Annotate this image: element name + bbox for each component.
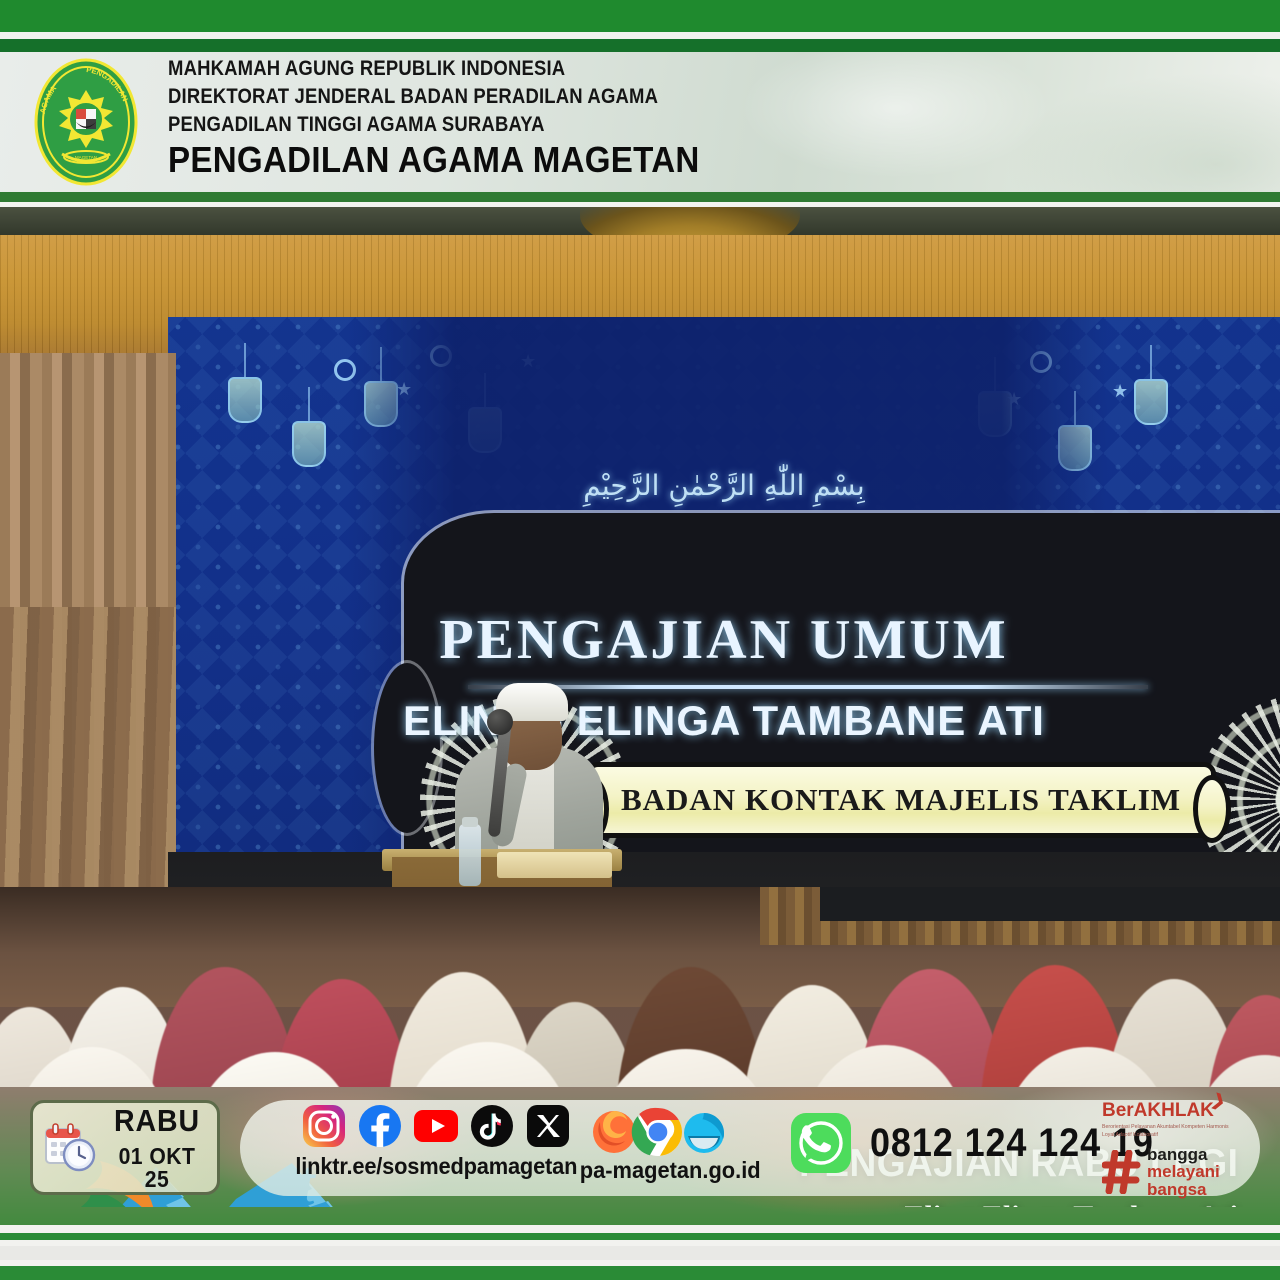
bangga-line-2: melayani <box>1147 1163 1220 1181</box>
whatsapp-icon[interactable] <box>790 1112 852 1174</box>
stage-backdrop: ★ ★ ★ ★ بِسْمِ اللّٰهِ الرَّحْمٰنِ الرَّ… <box>168 317 1280 917</box>
event-photo: ★ ★ ★ ★ بِسْمِ اللّٰهِ الرَّحْمٰنِ الرَّ… <box>0 207 1280 1207</box>
event-subtitle: Eling-Elinga Tambane Ati <box>776 1200 1238 1207</box>
social-media-icons[interactable] <box>288 1104 585 1148</box>
header-line-3: PENGADILAN TINGGI AGAMA SURABAYA <box>168 114 677 135</box>
pengadilan-agama-magetan-crest-icon: MAGETAN PENGADILAN AGAMA <box>32 56 140 188</box>
header-green-stripe-2 <box>0 39 1280 52</box>
header-green-stripe-top <box>0 0 1280 32</box>
bangga-line-1: bangga <box>1147 1146 1220 1164</box>
banner-divider-rule <box>468 685 1148 689</box>
poster-root: MAGETAN PENGADILAN AGAMA MAHKAMAH AGUNG … <box>0 0 1280 1280</box>
date-value-label: 01 OKT 25 <box>109 1145 205 1191</box>
header-line-1: MAHKAMAH AGUNG REPUBLIK INDONESIA <box>168 58 677 79</box>
banner-organization-cartouche: BADAN KONTAK MAJELIS TAKLIM <box>586 762 1216 838</box>
social-media-group[interactable]: linktr.ee/sosmedpamagetan <box>288 1104 585 1180</box>
lantern-icon <box>292 387 326 467</box>
website-group[interactable]: pa-magetan.go.id <box>575 1106 765 1184</box>
youtube-icon[interactable] <box>414 1104 458 1148</box>
berakhlak-subtitle: Berorientasi Pelayanan Akuntabel Kompete… <box>1102 1124 1232 1140</box>
calendar-clock-icon <box>43 1121 97 1175</box>
footer-stripe-white-1 <box>0 1225 1280 1233</box>
header-white-stripe-1 <box>0 32 1280 39</box>
instagram-icon[interactable] <box>302 1104 346 1148</box>
banner-subtitle: ELING - ELINGA TAMBANE ATI <box>168 697 1280 745</box>
footer-stripe-grey <box>0 1246 1280 1260</box>
dark-wall-panel <box>820 887 1280 921</box>
star-icon: ★ <box>1112 381 1128 402</box>
header-green-stripe-3 <box>0 192 1280 202</box>
banner-title: PENGAJIAN UMUM <box>168 608 1280 672</box>
header-text-block: MAHKAMAH AGUNG REPUBLIK INDONESIA DIREKT… <box>168 58 746 178</box>
water-bottle-cap <box>462 817 478 827</box>
date-badge: RABU 01 OKT 25 <box>30 1100 220 1195</box>
banner-organization-text: BADAN KONTAK MAJELIS TAKLIM <box>591 767 1211 833</box>
bangga-text-lines: bangga melayani bangsa <box>1147 1146 1220 1199</box>
microphone-head-icon <box>487 709 513 735</box>
date-day-label: RABU <box>109 1105 205 1136</box>
social-media-url[interactable]: linktr.ee/sosmedpamagetan <box>295 1153 577 1180</box>
berakhlak-title: BerAKHLAK ❯ <box>1102 1100 1214 1122</box>
footer-stripe-green-2 <box>0 1266 1280 1280</box>
water-bottle <box>459 824 481 886</box>
footer-stripe-green-1 <box>0 1233 1280 1240</box>
header-court-title: PENGADILAN AGAMA MAGETAN <box>168 142 700 178</box>
website-url[interactable]: pa-magetan.go.id <box>580 1157 761 1184</box>
svg-text:MAGETAN: MAGETAN <box>75 155 97 160</box>
bangga-melayani-bangsa-logo: bangga melayani bangsa <box>1102 1146 1252 1199</box>
date-badge-text: RABU 01 OKT 25 <box>105 1105 209 1191</box>
x-twitter-icon[interactable] <box>526 1104 570 1148</box>
internet-explorer-icon <box>678 1108 734 1158</box>
browser-icons <box>580 1106 760 1154</box>
bangga-line-3: bangsa <box>1147 1181 1220 1199</box>
tiktok-icon[interactable] <box>470 1104 514 1148</box>
lantern-icon <box>1134 345 1168 425</box>
berakhlak-title-text: BerAKHLAK <box>1102 1100 1214 1121</box>
book-on-table <box>497 852 612 878</box>
bismillah-calligraphy: بِسْمِ اللّٰهِ الرَّحْمٰنِ الرَّحِيْمِ <box>168 469 1280 502</box>
header-line-2: DIREKTORAT JENDERAL BADAN PERADILAN AGAM… <box>168 86 677 107</box>
hash-icon <box>1102 1150 1142 1194</box>
berakhlak-logo: BerAKHLAK ❯ Berorientasi Pelayanan Akunt… <box>1102 1100 1252 1199</box>
facebook-icon[interactable] <box>358 1104 402 1148</box>
lantern-icon <box>228 343 262 423</box>
